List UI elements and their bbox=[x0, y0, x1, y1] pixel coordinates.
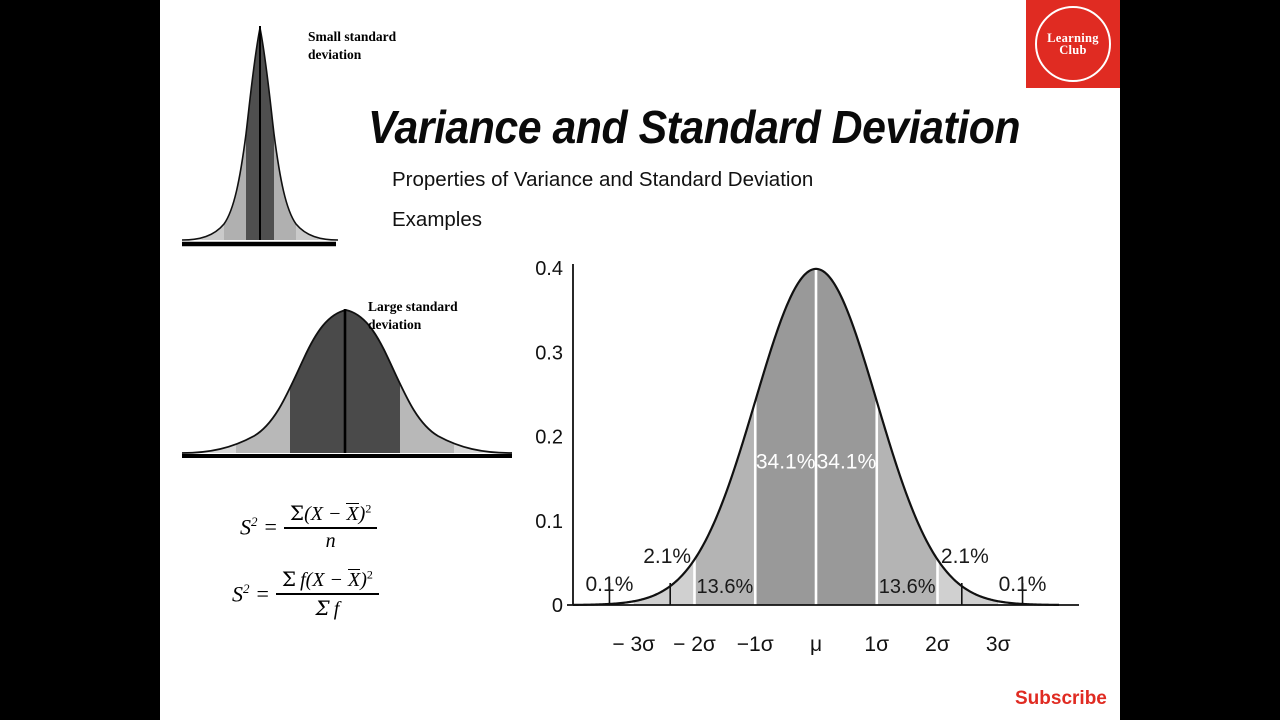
logo-ring: Learning Club bbox=[1035, 6, 1111, 82]
learning-club-logo[interactable]: Learning Club bbox=[1026, 0, 1120, 88]
band-3 bbox=[755, 262, 816, 609]
formula-1-equals: = bbox=[265, 514, 277, 540]
formula-2-equals: = bbox=[257, 581, 269, 607]
y-tick-4: 0.4 bbox=[535, 258, 563, 280]
slide-content: Learning Club Variance and Standard Devi… bbox=[160, 0, 1120, 720]
x-tick-6: 3σ bbox=[986, 633, 1011, 656]
small-sd-figure: Small standard deviation bbox=[180, 18, 440, 253]
x-tick-3: μ bbox=[810, 633, 822, 656]
band-label-3: 34.1% bbox=[756, 451, 816, 474]
x-tick-1: − 2σ bbox=[673, 633, 716, 656]
variance-formulas: S2 = Σ(X − X)2 n S2 = Σ f(X − X)2 bbox=[240, 495, 540, 635]
band-label-2: 13.6% bbox=[697, 576, 754, 598]
band-7 bbox=[998, 262, 1059, 609]
y-tick-3: 0.3 bbox=[535, 342, 563, 364]
y-tick-1: 0.1 bbox=[535, 511, 563, 533]
band-label-5: 13.6% bbox=[879, 576, 936, 598]
small-sd-caption-line-2: deviation bbox=[308, 46, 438, 64]
formula-1-lhs: S2 bbox=[240, 514, 258, 540]
formula-2-lhs: S2 bbox=[232, 581, 250, 607]
formula-1-numerator: Σ(X − X)2 bbox=[284, 501, 377, 527]
large-sd-figure: Large standard deviation bbox=[180, 296, 540, 466]
x-tick-4: 1σ bbox=[864, 633, 889, 656]
band-label-6: 2.1% bbox=[941, 545, 989, 568]
formula-2-numerator: Σ f(X − X)2 bbox=[276, 567, 379, 593]
formula-1-fraction: Σ(X − X)2 n bbox=[284, 501, 377, 553]
band-0 bbox=[573, 262, 634, 609]
x-tick-labels: − 3σ− 2σ−1σμ1σ2σ3σ bbox=[612, 633, 1010, 656]
bullet-properties: Properties of Variance and Standard Devi… bbox=[392, 168, 813, 192]
large-sd-caption-line-1: Large standard bbox=[368, 298, 508, 316]
x-tick-5: 2σ bbox=[925, 633, 950, 656]
x-tick-2: −1σ bbox=[737, 633, 774, 656]
band-2 bbox=[695, 262, 756, 609]
large-sd-caption: Large standard deviation bbox=[368, 298, 508, 334]
y-tick-0: 0 bbox=[552, 595, 563, 617]
letterbox-right bbox=[1120, 0, 1280, 720]
y-tick-2: 0.2 bbox=[535, 427, 563, 449]
formula-2-fraction: Σ f(X − X)2 Σ f bbox=[276, 567, 379, 621]
small-sd-caption-line-1: Small standard bbox=[308, 28, 438, 46]
band-label-1: 2.1% bbox=[643, 545, 691, 568]
slide-canvas: Learning Club Variance and Standard Devi… bbox=[0, 0, 1280, 720]
band-4 bbox=[816, 262, 877, 609]
formula-ungrouped-variance: S2 = Σ(X − X)2 n bbox=[240, 501, 377, 553]
letterbox-left bbox=[0, 0, 160, 720]
logo-line-2: Club bbox=[1059, 44, 1087, 57]
band-5 bbox=[877, 262, 938, 609]
normal-distribution-chart: 00.10.20.30.4− 3σ− 2σ−1σμ1σ2σ3σ0.1%2.1%1… bbox=[525, 250, 1085, 670]
band-label-0: 0.1% bbox=[586, 573, 634, 596]
formula-2-denominator: Σ f bbox=[310, 595, 346, 621]
page-title: Variance and Standard Deviation bbox=[368, 100, 1020, 154]
x-tick-0: − 3σ bbox=[612, 633, 655, 656]
large-sd-caption-line-2: deviation bbox=[368, 316, 508, 334]
band-label-4: 34.1% bbox=[817, 451, 877, 474]
normal-distribution-svg: 00.10.20.30.4− 3σ− 2σ−1σμ1σ2σ3σ0.1%2.1%1… bbox=[525, 250, 1085, 670]
subscribe-label[interactable]: Subscribe bbox=[1015, 688, 1107, 710]
band-label-7: 0.1% bbox=[999, 573, 1047, 596]
y-tick-labels: 00.10.20.30.4 bbox=[535, 258, 563, 617]
small-sd-caption: Small standard deviation bbox=[308, 28, 438, 64]
formula-grouped-variance: S2 = Σ f(X − X)2 Σ f bbox=[232, 567, 379, 621]
formula-1-denominator: n bbox=[320, 529, 342, 553]
